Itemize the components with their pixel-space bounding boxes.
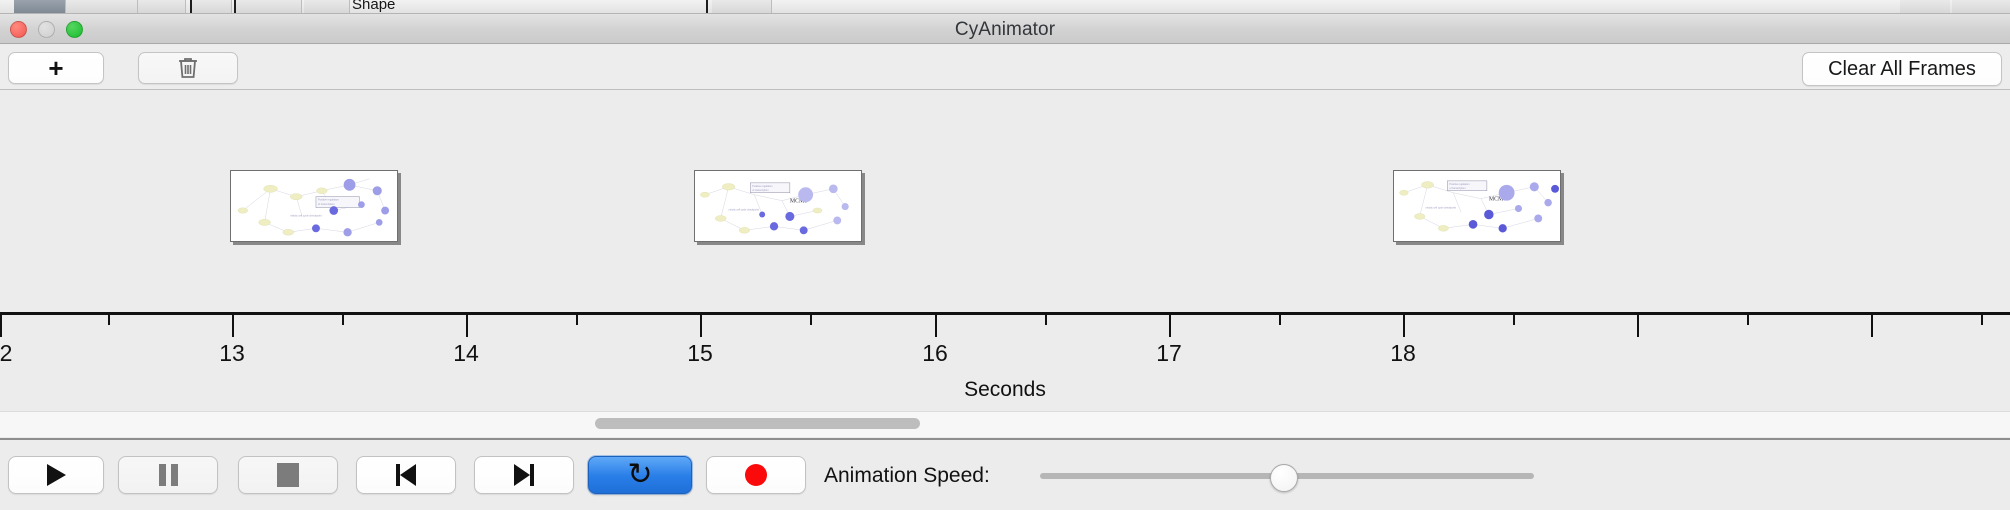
animation-speed-label: Animation Speed: <box>824 464 990 488</box>
bg-tab-6 <box>304 0 350 14</box>
scrollbar-thumb[interactable] <box>595 418 920 429</box>
skip-to-start-button[interactable] <box>356 456 456 494</box>
bg-tab-1 <box>14 0 66 14</box>
svg-text:of transcription: of transcription <box>318 202 335 206</box>
skip-to-start-icon <box>396 464 416 486</box>
clear-all-frames-label: Clear All Frames <box>1828 58 1976 81</box>
playback-control-bar: ↻ Animation Speed: <box>0 438 2010 510</box>
background-window-strip: Shape <box>0 0 2010 14</box>
axis-tick-label: 13 <box>219 340 245 367</box>
axis-minor-tick <box>1279 315 1281 325</box>
axis-minor-tick <box>108 315 110 325</box>
keyframe-thumbnail-3[interactable]: Positive regulation of transcription mit… <box>1393 170 1561 242</box>
svg-text:Positive regulation: Positive regulation <box>1449 183 1470 186</box>
add-frame-button[interactable]: + <box>8 52 104 84</box>
svg-text:of transcription: of transcription <box>1449 187 1466 190</box>
axis-tick-label: 14 <box>453 340 479 367</box>
svg-text:mitotic cell cycle checkpoint: mitotic cell cycle checkpoint <box>729 209 760 212</box>
delete-frame-button[interactable] <box>138 52 238 84</box>
axis-tick-label: 16 <box>922 340 948 367</box>
bg-tab-2 <box>66 0 138 14</box>
bg-tab-7 <box>712 0 772 14</box>
network-preview-icon: Positive regulation of transcription mit… <box>1394 171 1560 242</box>
axis-major-tick <box>1403 315 1405 337</box>
network-preview-icon: Positive regulation of transcription mit… <box>695 171 861 242</box>
loop-icon: ↻ <box>627 460 652 490</box>
svg-text:of transcription: of transcription <box>752 189 769 192</box>
keyframe-thumbnail-1[interactable]: Positive regulation of transcription mit… <box>230 170 398 242</box>
timeline-horizontal-scrollbar[interactable] <box>0 411 2010 437</box>
record-button[interactable] <box>706 456 806 494</box>
clear-all-frames-button[interactable]: Clear All Frames <box>1802 52 2002 86</box>
bg-tab-8 <box>1900 0 1950 14</box>
axis-major-tick <box>1637 315 1639 337</box>
axis-minor-tick <box>1747 315 1749 325</box>
axis-major-tick <box>935 315 937 337</box>
network-preview-icon: Positive regulation of transcription mit… <box>231 171 397 242</box>
keyframe-thumbnail-2[interactable]: Positive regulation of transcription mit… <box>694 170 862 242</box>
frame-toolbar: + Clear All Frames <box>0 45 2010 90</box>
bg-tab-4 <box>192 0 232 14</box>
timeline-axis <box>0 312 2010 315</box>
axis-minor-tick <box>1513 315 1515 325</box>
window-title: CyAnimator <box>0 19 2010 41</box>
axis-title: Seconds <box>0 378 2010 402</box>
axis-major-tick <box>1169 315 1171 337</box>
axis-tick-label: 15 <box>687 340 713 367</box>
stop-icon <box>277 463 299 487</box>
axis-minor-tick <box>1981 315 1983 325</box>
pause-icon <box>159 464 178 486</box>
play-icon <box>47 464 66 486</box>
bg-divider-3 <box>706 0 708 14</box>
bg-tab-5 <box>236 0 302 14</box>
bg-tab-9 <box>1952 0 2010 14</box>
skip-to-end-icon <box>514 464 534 486</box>
axis-tick-label: 2 <box>0 340 12 367</box>
svg-text:mitotic cell cycle checkpoint: mitotic cell cycle checkpoint <box>290 213 322 217</box>
axis-minor-tick <box>342 315 344 325</box>
axis-major-tick <box>0 315 2 337</box>
svg-text:Positive regulation: Positive regulation <box>752 185 773 188</box>
axis-minor-tick <box>576 315 578 325</box>
record-icon <box>745 464 767 486</box>
bg-window-label: Shape <box>352 0 395 13</box>
svg-text:Positive regulation: Positive regulation <box>318 198 339 202</box>
axis-major-tick <box>466 315 468 337</box>
plus-icon: + <box>48 55 63 81</box>
axis-minor-tick <box>1045 315 1047 325</box>
timeline-panel[interactable]: Positive regulation of transcription mit… <box>0 90 2010 425</box>
bg-tab-3 <box>138 0 186 14</box>
axis-major-tick <box>1871 315 1873 337</box>
skip-to-end-button[interactable] <box>474 456 574 494</box>
axis-major-tick <box>700 315 702 337</box>
stop-button[interactable] <box>238 456 338 494</box>
axis-tick-label: 17 <box>1156 340 1182 367</box>
axis-minor-tick <box>810 315 812 325</box>
svg-text:mitotic cell cycle checkpoint: mitotic cell cycle checkpoint <box>1426 207 1457 210</box>
animation-speed-slider-thumb[interactable] <box>1270 464 1298 492</box>
axis-major-tick <box>232 315 234 337</box>
axis-tick-label: 18 <box>1390 340 1416 367</box>
play-button[interactable] <box>8 456 104 494</box>
pause-button[interactable] <box>118 456 218 494</box>
window-title-bar: CyAnimator <box>0 14 2010 44</box>
loop-button[interactable]: ↻ <box>588 456 692 494</box>
trash-icon <box>177 56 199 81</box>
